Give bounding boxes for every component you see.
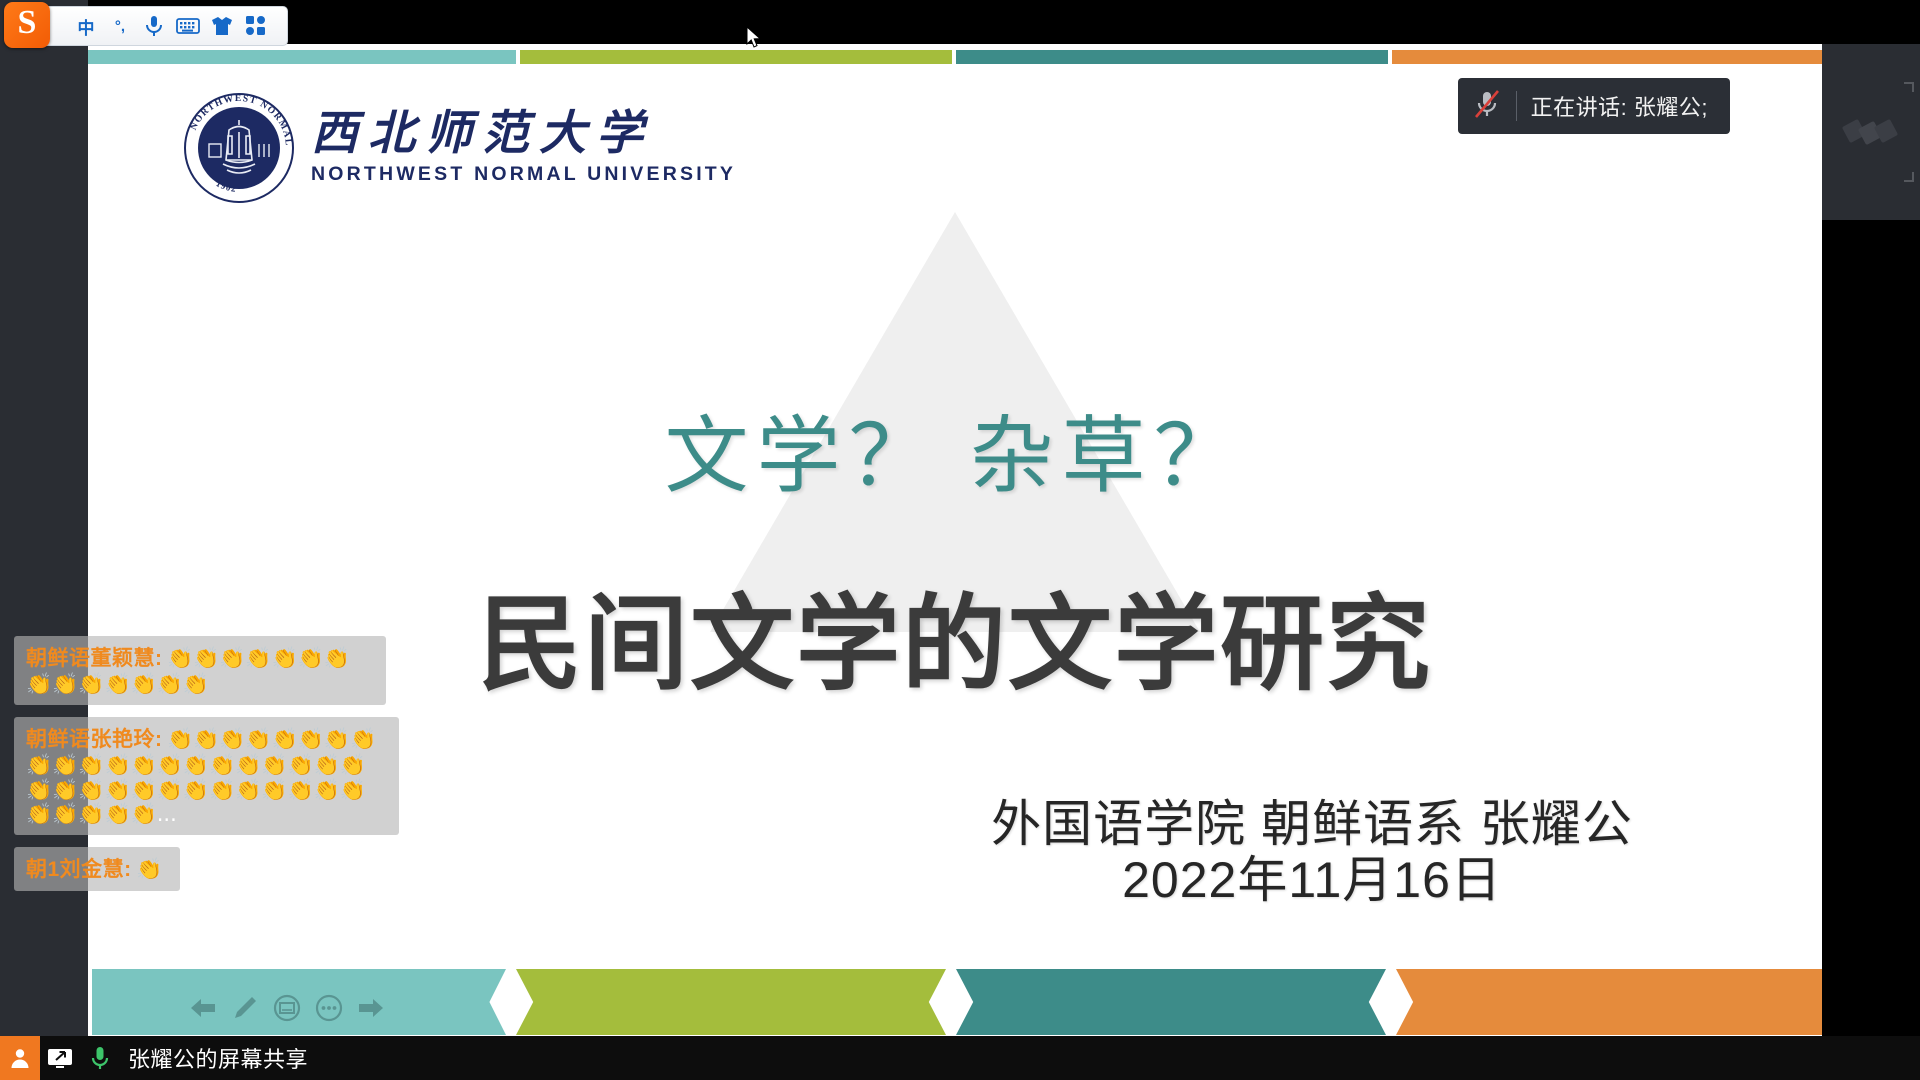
bottom-bar-teal-dark xyxy=(956,969,1386,1035)
slide-top-color-bars xyxy=(88,50,1822,64)
meeting-taskbar: 张耀公的屏幕共享 xyxy=(0,1036,1920,1080)
chat-sender: 朝1刘金慧: xyxy=(26,858,132,881)
sogou-logo-icon[interactable]: S xyxy=(4,2,50,48)
top-bar-orange xyxy=(1392,50,1822,64)
mic-muted-icon xyxy=(1472,88,1502,125)
panel-corner-bottom-right xyxy=(1904,172,1914,182)
panel-corner-top-right xyxy=(1904,82,1914,92)
next-slide-icon[interactable] xyxy=(356,993,386,1023)
mouse-cursor xyxy=(746,26,762,50)
chat-sender: 朝鲜语张艳玲: xyxy=(26,728,163,751)
chat-text: 👏 xyxy=(136,857,162,881)
university-logo-text: 西北师范大学 NORTHWEST NORMAL UNIVERSITY xyxy=(311,110,736,186)
bottom-bar-green xyxy=(516,969,946,1035)
university-name-cn: 西北师范大学 xyxy=(311,110,736,159)
chat-sender: 朝鲜语董颖慧: xyxy=(26,647,163,670)
microphone-icon[interactable] xyxy=(80,1036,120,1080)
more-options-icon[interactable] xyxy=(314,993,344,1023)
powerpoint-presenter-controls[interactable] xyxy=(188,993,386,1023)
voice-input-icon[interactable] xyxy=(139,11,169,41)
slide-view-icon[interactable] xyxy=(272,993,302,1023)
chinese-mode-glyph: 中 xyxy=(78,14,95,39)
sogou-logo-glyph: S xyxy=(18,6,37,40)
slide-byline: 外国语学院 朝鲜语系 张耀公 2022年11月16日 xyxy=(952,796,1672,908)
byline-author: 外国语学院 朝鲜语系 张耀公 xyxy=(952,796,1672,852)
speaking-divider xyxy=(1516,91,1517,121)
video-placeholder-icon xyxy=(1841,112,1901,152)
skin-selector-icon[interactable] xyxy=(207,11,237,41)
screen-share-icon[interactable] xyxy=(40,1036,80,1080)
participant-icon[interactable] xyxy=(0,1036,40,1080)
chat-message: 朝鲜语张艳玲: 👏👏👏👏👏👏👏👏👏👏👏👏👏👏👏👏👏👏👏👏👏👏👏👏👏👏👏👏👏👏👏👏… xyxy=(14,717,399,835)
ime-button-panel[interactable]: 中 °, xyxy=(22,6,288,46)
pen-tool-icon[interactable] xyxy=(230,993,260,1023)
university-logo: NORTHWEST NORMAL UNIVERSITY 1902 xyxy=(183,92,736,204)
slide-subtitle: 文学？ 杂草？ xyxy=(88,389,1822,510)
punctuation-mode-icon[interactable]: °, xyxy=(105,11,135,41)
sogou-ime-toolbar[interactable]: 中 °, xyxy=(0,0,288,50)
previous-slide-icon[interactable] xyxy=(188,993,218,1023)
letterbox-top xyxy=(0,0,1920,44)
toolbox-icon[interactable] xyxy=(241,11,271,41)
taskbar-share-label: 张耀公的屏幕共享 xyxy=(128,1042,308,1074)
chat-message: 朝1刘金慧: 👏 xyxy=(14,847,180,891)
speaking-indicator: 正在讲话: 张耀公; xyxy=(1458,78,1730,134)
university-name-en: NORTHWEST NORMAL UNIVERSITY xyxy=(311,163,736,186)
chinese-mode-icon[interactable]: 中 xyxy=(71,11,101,41)
byline-date: 2022年11月16日 xyxy=(952,852,1672,908)
video-thumbnail-panel[interactable] xyxy=(1822,44,1920,220)
screen-root: NORTHWEST NORMAL UNIVERSITY 1902 xyxy=(0,0,1920,1080)
top-bar-green xyxy=(520,50,952,64)
bottom-bar-orange xyxy=(1396,969,1822,1035)
speaking-label: 正在讲话: 张耀公; xyxy=(1531,90,1708,122)
chat-overlay: 朝鲜语董颖慧: 👏👏👏👏👏👏👏👏👏👏👏👏👏👏 朝鲜语张艳玲: 👏👏👏👏👏👏👏👏👏… xyxy=(14,636,414,903)
chat-message: 朝鲜语董颖慧: 👏👏👏👏👏👏👏👏👏👏👏👏👏👏 xyxy=(14,636,386,705)
university-seal-icon: NORTHWEST NORMAL UNIVERSITY 1902 xyxy=(183,92,295,204)
top-bar-teal-light xyxy=(88,50,516,64)
soft-keyboard-icon[interactable] xyxy=(173,11,203,41)
top-bar-teal-dark xyxy=(956,50,1388,64)
punctuation-glyph: °, xyxy=(115,18,125,35)
